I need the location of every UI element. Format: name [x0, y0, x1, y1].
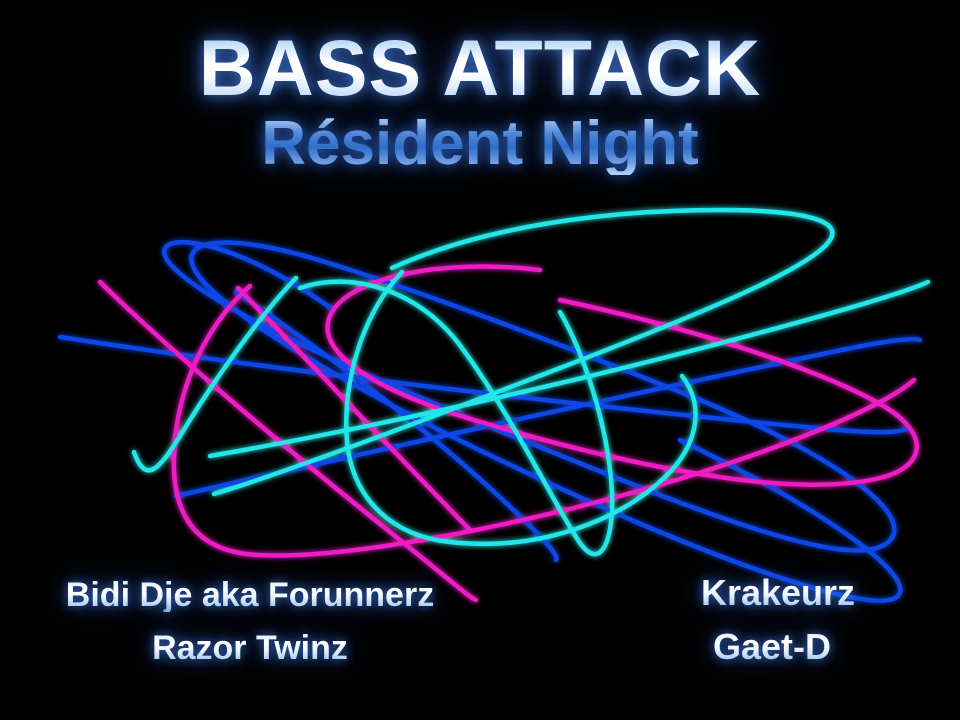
laser-stroke-group [60, 210, 928, 601]
laser-stroke-blue-line-flat-lower [176, 339, 920, 496]
laser-stroke-blue-diagonal-long [236, 292, 556, 560]
laser-stroke-blue-line-flat-upper [60, 337, 908, 432]
laser-stroke-magenta-straight [100, 282, 476, 600]
credit-right-line-2: Gaet-D [590, 629, 954, 665]
laser-stroke-cyan-left-tail [134, 278, 296, 470]
laser-stroke-cyan-top-loop [214, 210, 832, 494]
poster-canvas: BASS ATTACK Résident Night Bidi Dje aka … [0, 0, 960, 720]
credit-left-line-2: Razor Twinz [0, 631, 500, 665]
laser-stroke-magenta-lower-arc [174, 286, 914, 555]
laser-stroke-blue-loop-outer [191, 242, 900, 600]
laser-stroke-cyan-inner-loop [300, 282, 612, 554]
credit-left-line-1: Bidi Dje aka Forunnerz [0, 578, 500, 612]
laser-stroke-magenta-short-diag [238, 288, 470, 530]
laser-stroke-magenta-big-loop [328, 266, 917, 484]
credit-right-line-1: Krakeurz [596, 575, 960, 611]
laser-stroke-cyan-long-diagonal [210, 282, 928, 456]
main-title: BASS ATTACK [0, 28, 960, 107]
sub-title: Résident Night [0, 113, 960, 175]
laser-stroke-cyan-bottom-loop [346, 272, 695, 544]
laser-stroke-blue-loop-large [164, 242, 894, 550]
